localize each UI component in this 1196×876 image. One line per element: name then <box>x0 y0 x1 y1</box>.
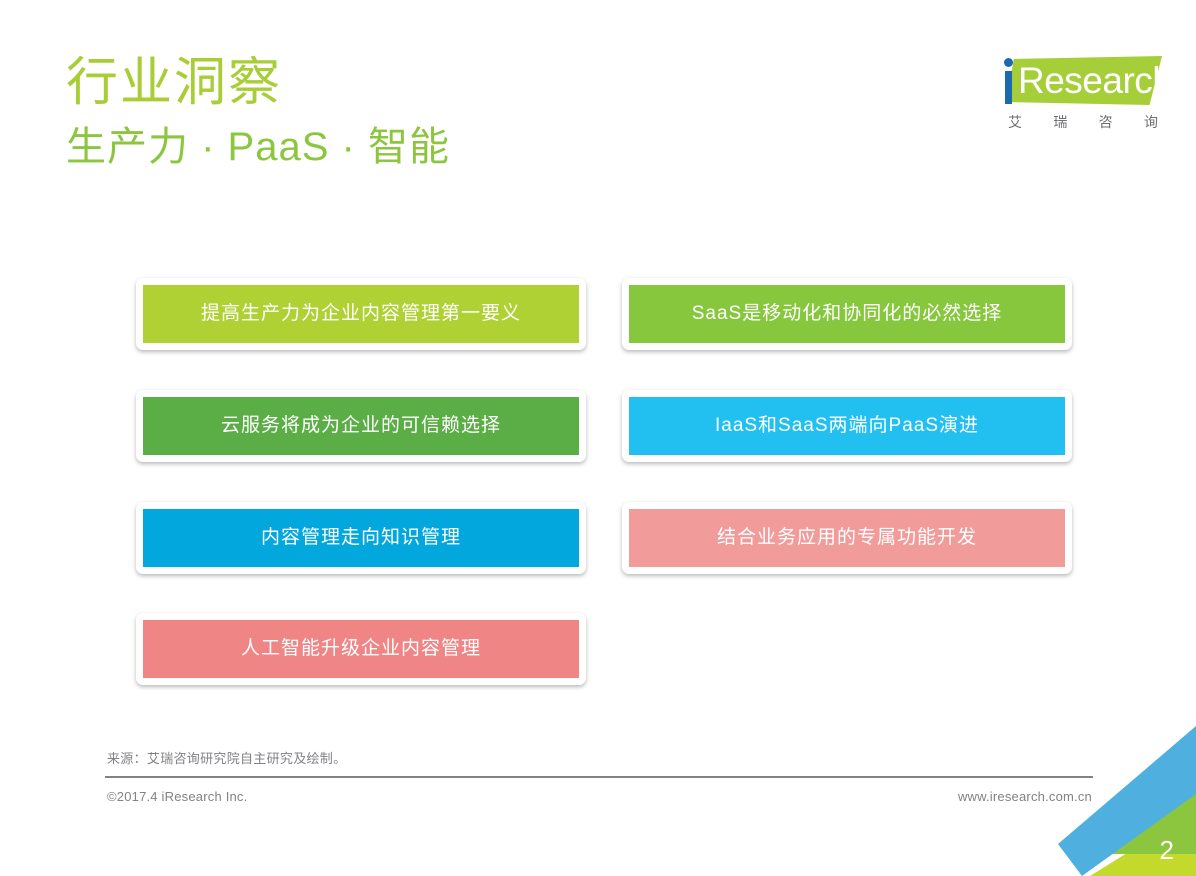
logo-i-dot-icon <box>1004 58 1013 67</box>
corner-band-green <box>1106 760 1196 854</box>
insight-box-frame: 人工智能升级企业内容管理 <box>136 613 586 685</box>
logo-cn-char-1: 艾 <box>1008 112 1022 132</box>
insight-box-frame: IaaS和SaaS两端向PaaS演进 <box>622 390 1072 462</box>
logo-i-stem-icon <box>1005 71 1012 104</box>
insight-box-label: SaaS是移动化和协同化的必然选择 <box>629 285 1065 343</box>
insight-box[interactable]: IaaS和SaaS两端向PaaS演进 <box>622 390 1072 462</box>
insight-box-frame: SaaS是移动化和协同化的必然选择 <box>622 278 1072 350</box>
page-subtitle: 生产力 · PaaS · 智能 <box>66 122 686 172</box>
insight-box[interactable]: 人工智能升级企业内容管理 <box>136 613 586 685</box>
logo-wordmark: Research <box>1018 58 1172 103</box>
title-block: 行业洞察 生产力 · PaaS · 智能 <box>66 52 686 172</box>
footer-source-note: 来源：艾瑞咨询研究院自主研究及绘制。 <box>107 748 346 767</box>
footer-copyright: ©2017.4 iResearch Inc. <box>107 789 247 804</box>
logo-cn-char-4: 询 <box>1144 112 1158 132</box>
corner-band-lime <box>1090 810 1196 876</box>
insight-box-frame: 内容管理走向知识管理 <box>136 502 586 574</box>
insight-box-grid: 提高生产力为企业内容管理第一要义SaaS是移动化和协同化的必然选择云服务将成为企… <box>136 278 1076 693</box>
insight-box-label: 结合业务应用的专属功能开发 <box>629 509 1065 567</box>
insight-box[interactable]: 内容管理走向知识管理 <box>136 502 586 574</box>
insight-box[interactable]: 提高生产力为企业内容管理第一要义 <box>136 278 586 350</box>
iresearch-logo: Research 艾 瑞 咨 询 <box>986 54 1164 142</box>
insight-box-label: 人工智能升级企业内容管理 <box>143 620 579 678</box>
footer-website-url: www.iresearch.com.cn <box>958 789 1092 804</box>
insight-box[interactable]: 云服务将成为企业的可信赖选择 <box>136 390 586 462</box>
footer-divider <box>105 776 1093 778</box>
logo-cn-char-2: 瑞 <box>1053 112 1067 132</box>
insight-box-frame: 云服务将成为企业的可信赖选择 <box>136 390 586 462</box>
insight-box-label: IaaS和SaaS两端向PaaS演进 <box>629 397 1065 455</box>
page-number: 2 <box>1160 835 1174 866</box>
insight-box-frame: 提高生产力为企业内容管理第一要义 <box>136 278 586 350</box>
page-title: 行业洞察 <box>66 52 686 114</box>
insight-box-frame: 结合业务应用的专属功能开发 <box>622 502 1072 574</box>
slide-canvas: 行业洞察 生产力 · PaaS · 智能 Research 艾 瑞 咨 询 提高… <box>0 0 1196 876</box>
insight-box-label: 云服务将成为企业的可信赖选择 <box>143 397 579 455</box>
logo-chinese-name: 艾 瑞 咨 询 <box>1008 112 1158 132</box>
logo-mark: Research <box>986 54 1164 114</box>
logo-cn-char-3: 咨 <box>1099 112 1113 132</box>
insight-box-label: 提高生产力为企业内容管理第一要义 <box>143 285 579 343</box>
insight-box[interactable]: SaaS是移动化和协同化的必然选择 <box>622 278 1072 350</box>
insight-box[interactable]: 结合业务应用的专属功能开发 <box>622 502 1072 574</box>
insight-box-label: 内容管理走向知识管理 <box>143 509 579 567</box>
